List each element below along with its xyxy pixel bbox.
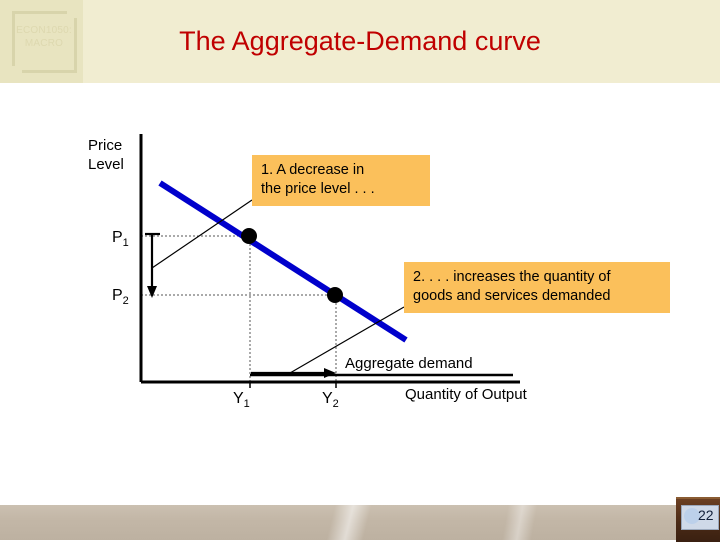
slide-number: 22	[698, 507, 714, 523]
y-axis-title: Price Level	[88, 136, 124, 174]
y-tick-label-p1-base: P	[112, 229, 123, 246]
y-tick-label-p2-base: P	[112, 287, 123, 304]
slide-canvas: ECON1050: MACRO The Aggregate-Demand cur…	[0, 0, 720, 540]
y-tick-label-p1: P1	[112, 229, 129, 249]
quantity-increase-arrowhead	[324, 368, 336, 378]
price-decrease-arrow	[145, 234, 160, 290]
callout-quantity-increase: 2. . . . increases the quantity of goods…	[404, 262, 670, 313]
callout-price-decrease: 1. A decrease in the price level . . .	[252, 155, 430, 206]
x-axis-title: Quantity of Output	[405, 386, 527, 403]
projection-guides	[141, 236, 336, 382]
x-tick-label-y2-sub: 2	[333, 398, 339, 410]
y-tick-label-p2: P2	[112, 287, 129, 307]
x-tick-label-y1: Y1	[233, 390, 250, 410]
x-tick-label-y1-base: Y	[233, 390, 244, 407]
y-tick-label-p2-sub: 2	[123, 295, 129, 307]
point-y2-p2	[327, 287, 343, 303]
price-decrease-arrowhead	[147, 286, 157, 298]
slide-footer-band	[0, 505, 720, 540]
point-y1-p1	[241, 228, 257, 244]
slide-header-band: ECON1050: MACRO The Aggregate-Demand cur…	[0, 0, 720, 83]
curve-label-aggregate-demand: Aggregate demand	[345, 355, 473, 372]
page-title: The Aggregate-Demand curve	[0, 26, 720, 57]
x-tick-label-y2-base: Y	[322, 390, 333, 407]
y-tick-label-p1-sub: 1	[123, 237, 129, 249]
x-tick-label-y2: Y2	[322, 390, 339, 410]
aggregate-demand-curve	[160, 183, 406, 340]
x-tick-label-y1-sub: 1	[244, 398, 250, 410]
aggregate-demand-chart: Price Level Quantity of Output Aggregate…	[0, 83, 720, 490]
